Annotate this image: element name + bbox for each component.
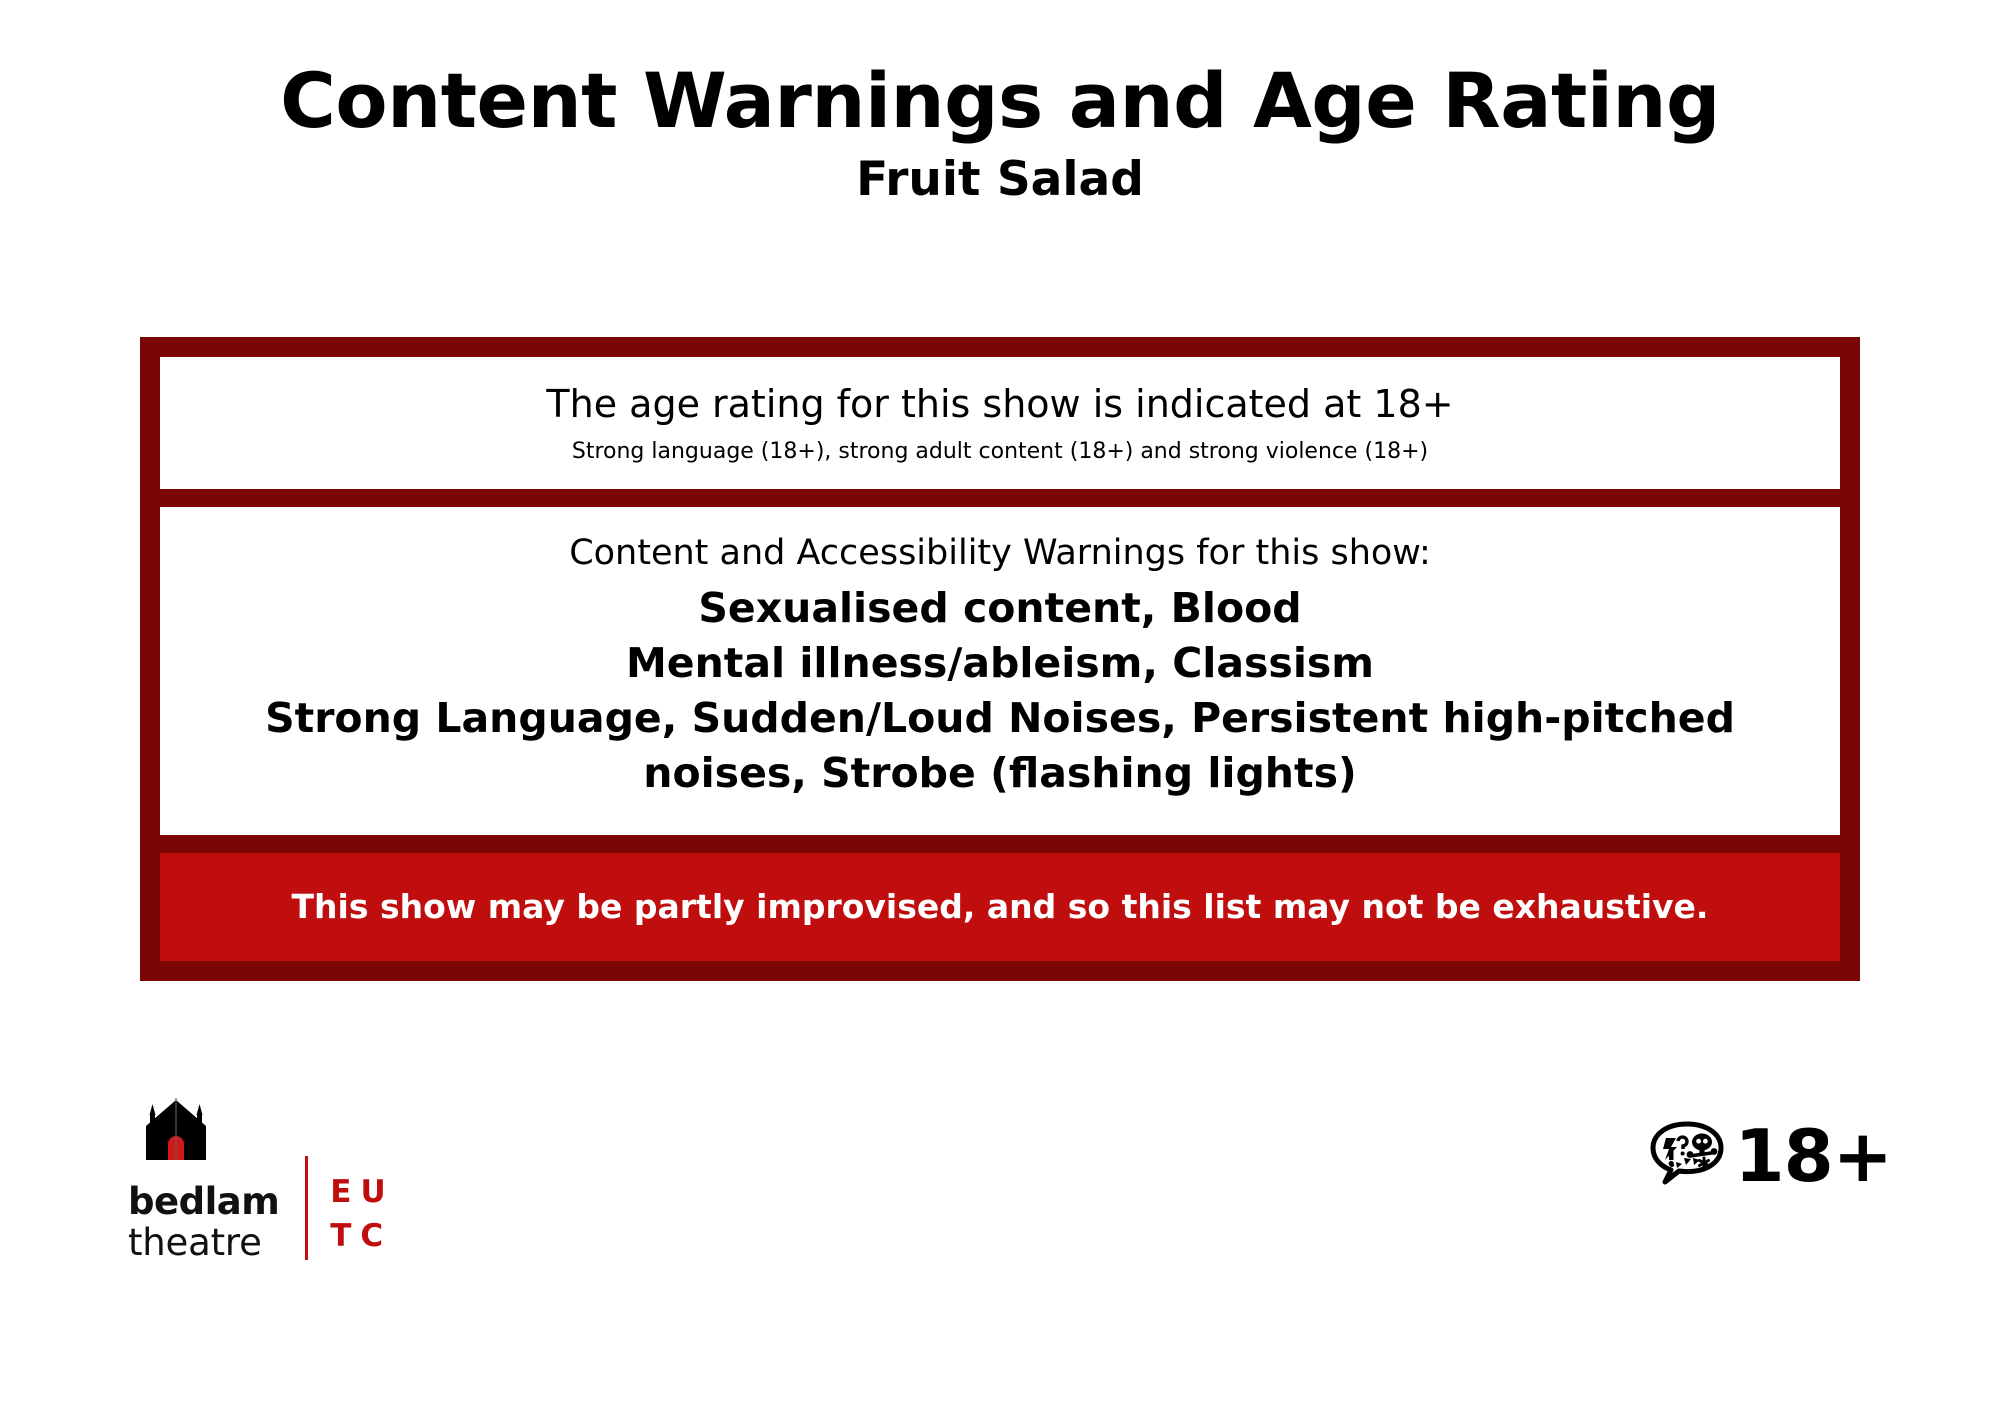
page-header: Content Warnings and Age Rating Fruit Sa…: [0, 0, 2000, 207]
content-warnings-box: Content and Accessibility Warnings for t…: [160, 507, 1840, 835]
chapel-building-icon: [138, 1096, 214, 1177]
age-rating-box: The age rating for this show is indicate…: [160, 357, 1840, 489]
content-warning-line: Sexualised content, Blood: [190, 581, 1810, 636]
eutc-wordmark: EU TC: [330, 1170, 394, 1258]
bedlam-wordmark-lockup: bedlam theatre: [128, 1096, 279, 1264]
theatre-wordmark: theatre: [128, 1222, 262, 1263]
content-warning-line: noises, Strobe (flashing lights): [190, 746, 1810, 801]
grawlix-speech-bubble-icon: [1648, 1118, 1726, 1193]
eutc-line-1: EU: [330, 1170, 394, 1214]
panel-divider: [160, 835, 1840, 853]
panel-divider: [160, 489, 1840, 507]
age-rating-statement: The age rating for this show is indicate…: [200, 383, 1800, 427]
page-footer: bedlam theatre EU TC: [0, 1090, 2000, 1320]
age-badge-label: 18+: [1734, 1120, 1892, 1192]
improvisation-disclaimer-banner: This show may be partly improvised, and …: [160, 853, 1840, 961]
bedlam-theatre-logo: bedlam theatre EU TC: [128, 1096, 395, 1264]
show-name-subtitle: Fruit Salad: [0, 152, 2000, 207]
content-warnings-list: Sexualised content, Blood Mental illness…: [190, 581, 1810, 801]
age-rating-detail: Strong language (18+), strong adult cont…: [200, 439, 1800, 465]
content-warning-line: Strong Language, Sudden/Loud Noises, Per…: [190, 691, 1810, 746]
logo-divider-rule: [305, 1156, 308, 1260]
bedlam-wordmark: bedlam: [128, 1181, 279, 1222]
age-rating-badge: 18+: [1648, 1118, 1892, 1193]
content-warnings-heading: Content and Accessibility Warnings for t…: [190, 533, 1810, 573]
improvisation-disclaimer-text: This show may be partly improvised, and …: [184, 887, 1816, 927]
warnings-panel: The age rating for this show is indicate…: [140, 337, 1860, 981]
eutc-line-2: TC: [330, 1214, 394, 1258]
content-warning-line: Mental illness/ableism, Classism: [190, 636, 1810, 691]
page-title: Content Warnings and Age Rating: [0, 62, 2000, 140]
